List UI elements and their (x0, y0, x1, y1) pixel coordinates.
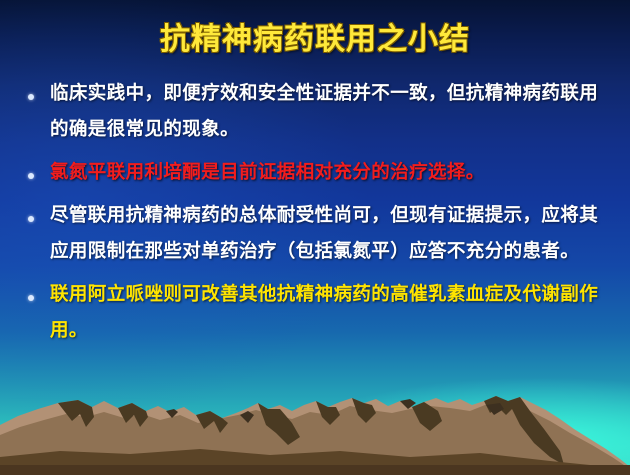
bullet-dot-icon (28, 198, 50, 226)
bullet-text: 临床实践中，即便疗效和安全性证据并不一致，但抗精神病药联用的确是很常见的现象。 (50, 76, 612, 148)
slide-canvas: 抗精神病药联用之小结 临床实践中，即便疗效和安全性证据并不一致，但抗精神病药联用… (0, 0, 630, 475)
bullet-item: 尽管联用抗精神病药的总体耐受性尚可，但现有证据提示，应将其应用限制在那些对单药治… (28, 198, 612, 270)
bullet-dot-icon (28, 155, 50, 183)
bullet-text: 联用阿立哌唑则可改善其他抗精神病药的高催乳素血症及代谢副作用。 (50, 277, 612, 349)
bullet-list: 临床实践中，即便疗效和安全性证据并不一致，但抗精神病药联用的确是很常见的现象。 … (28, 76, 612, 356)
bullet-text: 氯氮平联用利培酮是目前证据相对充分的治疗选择。 (50, 155, 612, 191)
mountain-range-illustration (0, 365, 630, 475)
bullet-item: 临床实践中，即便疗效和安全性证据并不一致，但抗精神病药联用的确是很常见的现象。 (28, 76, 612, 148)
slide-title: 抗精神病药联用之小结 (160, 14, 470, 58)
bullet-item: 联用阿立哌唑则可改善其他抗精神病药的高催乳素血症及代谢副作用。 (28, 277, 612, 349)
bullet-text: 尽管联用抗精神病药的总体耐受性尚可，但现有证据提示，应将其应用限制在那些对单药治… (50, 198, 612, 270)
bullet-dot-icon (28, 76, 50, 104)
slide-title-container: 抗精神病药联用之小结 (0, 14, 630, 58)
bullet-dot-icon (28, 277, 50, 305)
bullet-item: 氯氮平联用利培酮是目前证据相对充分的治疗选择。 (28, 155, 612, 191)
mountain-ground (0, 465, 630, 475)
